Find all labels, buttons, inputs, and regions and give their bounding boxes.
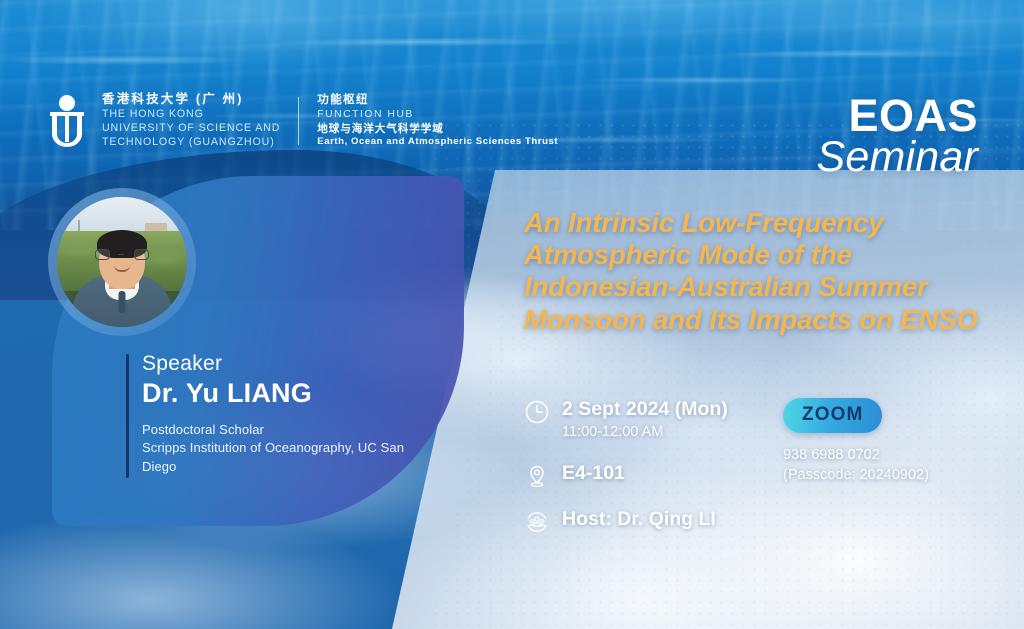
detail-row-venue: E4-101: [524, 462, 824, 489]
function-hub-en: FUNCTION HUB: [317, 108, 558, 122]
speaker-info: Speaker Dr. Yu LIANG Postdoctoral Schola…: [142, 352, 442, 477]
photo-zipper: [119, 291, 126, 313]
thrust-name-cn: 地球与海洋大气科学学域: [317, 122, 558, 136]
seminar-poster: 香港科技大学 (广 州) THE HONG KONG UNIVERSITY OF…: [0, 0, 1024, 629]
series-subtitle: Seminar: [816, 136, 978, 180]
speaker-label: Speaker: [142, 352, 442, 376]
datetime-text-group: 2 Sept 2024 (Mon) 11:00-12:00 AM: [562, 398, 728, 443]
event-host: Host: Dr. Qing LI: [562, 508, 716, 531]
thrust-name-en: Earth, Ocean and Atmospheric Sciences Th…: [317, 136, 558, 149]
zoom-info: ZOOM 938 6988 0702 (Passcode: 20240902): [783, 398, 983, 485]
photo-glasses-bridge: [118, 254, 124, 256]
speaker-affiliation: Postdoctoral Scholar Scripps Institution…: [142, 421, 442, 478]
institution-logo-lockup: 香港科技大学 (广 州) THE HONG KONG UNIVERSITY OF…: [46, 92, 558, 150]
university-name-en-3: TECHNOLOGY (GUANGZHOU): [102, 136, 280, 150]
photo-glasses-right: [134, 249, 149, 260]
detail-row-datetime: 2 Sept 2024 (Mon) 11:00-12:00 AM: [524, 398, 824, 443]
series-title: EOAS: [816, 94, 978, 138]
location-pin-icon: [524, 463, 550, 489]
university-name-cn: 香港科技大学 (广 州): [102, 92, 280, 108]
event-date: 2 Sept 2024 (Mon): [562, 398, 728, 421]
university-name-en-2: UNIVERSITY OF SCIENCE AND: [102, 122, 280, 136]
event-venue: E4-101: [562, 462, 625, 485]
zoom-badge[interactable]: ZOOM: [783, 398, 882, 433]
event-time: 11:00-12:00 AM: [562, 423, 728, 443]
detail-row-host: Host: Dr. Qing LI: [524, 508, 824, 535]
function-hub-cn: 功能枢纽: [317, 93, 558, 108]
speaker-photo: [57, 197, 187, 327]
talk-title: An Intrinsic Low-Frequency Atmospheric M…: [524, 207, 1010, 336]
speaker-name: Dr. Yu LIANG: [142, 377, 442, 409]
zoom-meeting-info: 938 6988 0702 (Passcode: 20240902): [783, 445, 983, 485]
logo-divider: [298, 97, 299, 145]
photo-glasses-left: [95, 249, 110, 260]
university-name-en-1: THE HONG KONG: [102, 108, 280, 122]
series-branding: EOAS Seminar: [816, 94, 978, 180]
clock-icon: [524, 399, 550, 425]
people-group-icon: [524, 509, 550, 535]
hkust-logo-icon: [46, 94, 88, 148]
university-name-block: 香港科技大学 (广 州) THE HONG KONG UNIVERSITY OF…: [102, 92, 280, 150]
function-hub-block: 功能枢纽 FUNCTION HUB 地球与海洋大气科学学域 Earth, Oce…: [317, 93, 558, 149]
avatar-ring: [48, 188, 196, 336]
speaker-divider-rule: [126, 354, 129, 478]
event-details: 2 Sept 2024 (Mon) 11:00-12:00 AM E4-101: [524, 398, 824, 554]
